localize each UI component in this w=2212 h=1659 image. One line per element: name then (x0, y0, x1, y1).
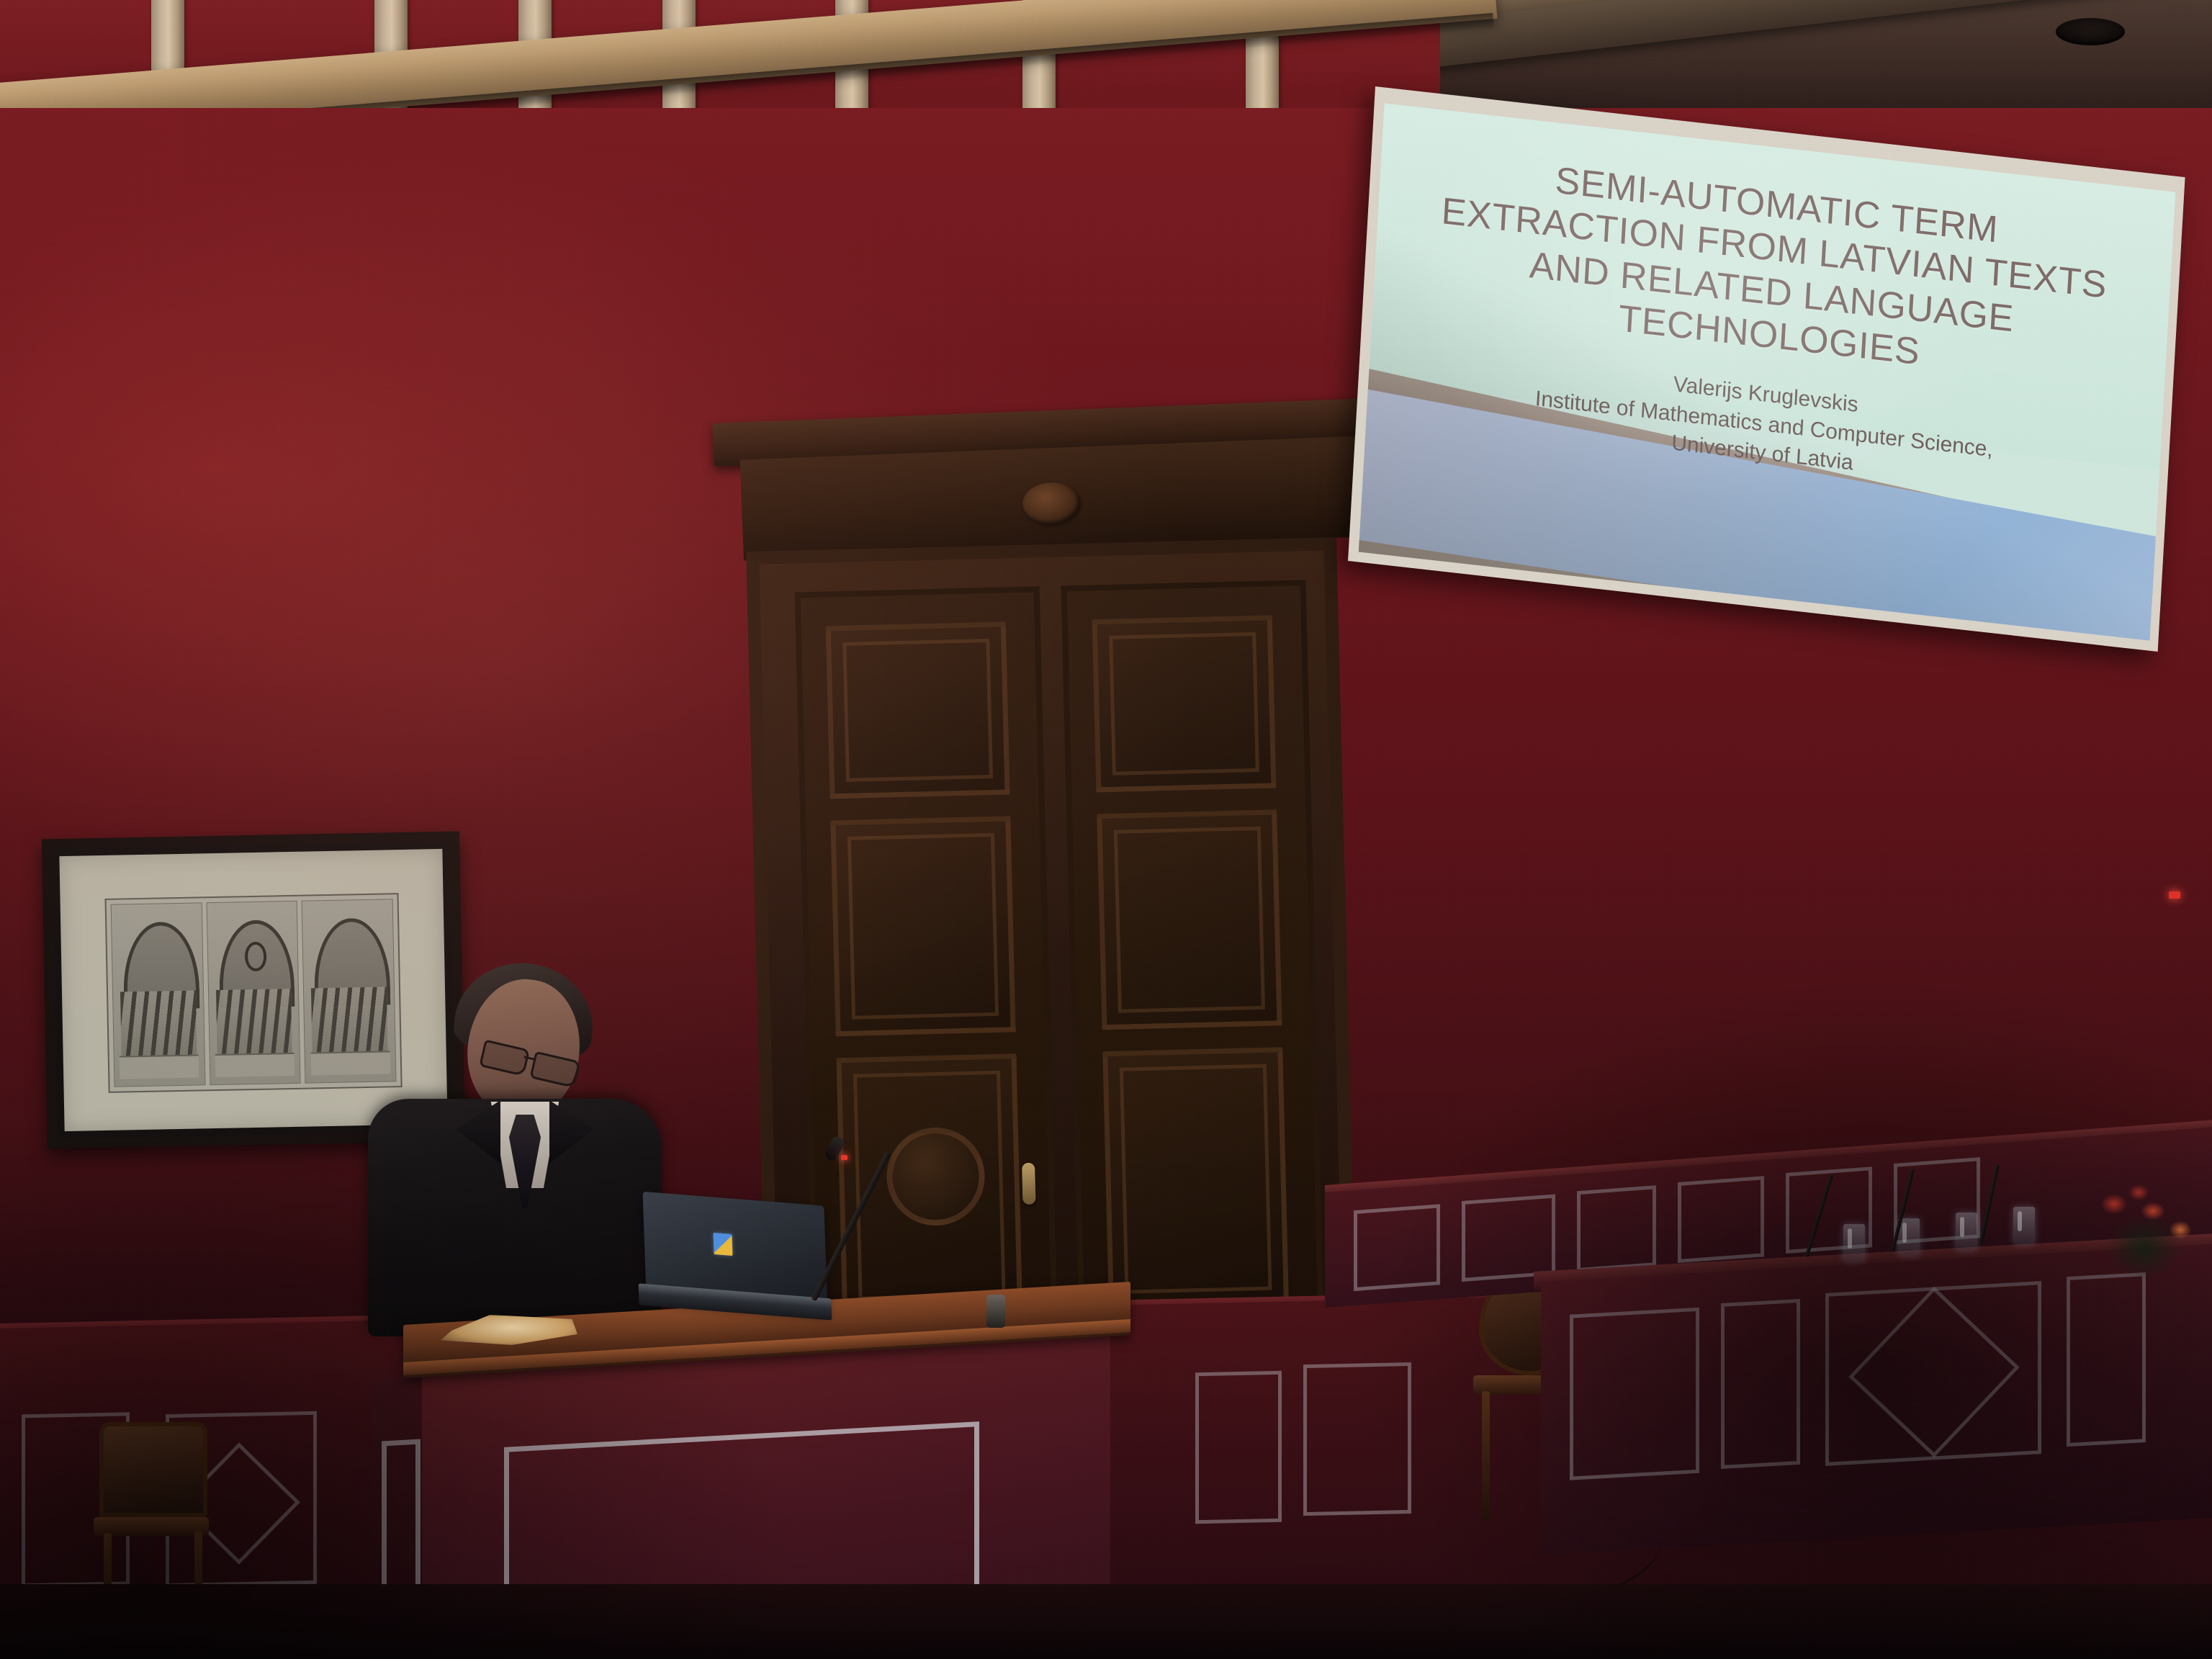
figure-group (120, 990, 197, 1061)
table-panel (1354, 1204, 1440, 1291)
panel-caption-band (215, 1053, 295, 1077)
table-panel (1678, 1176, 1764, 1263)
door-panel (1102, 1047, 1289, 1310)
picture-artwork (105, 893, 403, 1093)
wainscot-panel (1195, 1371, 1282, 1524)
water-glass[interactable] (1843, 1224, 1865, 1262)
door-panel-inner (1109, 632, 1259, 775)
door-panel (826, 621, 1010, 799)
water-glass[interactable] (1898, 1218, 1920, 1256)
door-panel-inner (842, 639, 993, 782)
projection-screen: SEMI-AUTOMATIC TERM EXTRACTION FROM LATV… (1348, 86, 2185, 652)
panel-caption-band (120, 1054, 199, 1079)
conference-hall-photo: SEMI-AUTOMATIC TERM EXTRACTION FROM LATV… (0, 0, 2212, 1659)
table-panel (1577, 1185, 1656, 1272)
triptych-panel-center (206, 901, 301, 1085)
presentation-slide: SEMI-AUTOMATIC TERM EXTRACTION FROM LATV… (1359, 104, 2176, 641)
door-panel (830, 816, 1015, 1036)
chair-backrest (99, 1422, 207, 1517)
flower-arrangement (2072, 1161, 2209, 1305)
equipment-indicator-led (2169, 891, 2180, 899)
figure-group (216, 989, 293, 1059)
presenter-person (364, 958, 666, 1332)
laptop-logo-sticker (713, 1233, 732, 1256)
door-leaf-right[interactable] (1061, 580, 1324, 1341)
door-panel-inner (1114, 827, 1265, 1013)
door-panel (1097, 809, 1282, 1030)
water-glass[interactable] (2013, 1207, 2035, 1244)
table-panel (1721, 1299, 1800, 1469)
triptych-panel-left (111, 902, 206, 1087)
water-glass[interactable] (1956, 1213, 1977, 1250)
microphone-status-led (841, 1155, 848, 1160)
door-panel-inner (1120, 1064, 1272, 1294)
podium-microphone-base (986, 1295, 1005, 1328)
table-panel (1570, 1308, 1699, 1480)
door-panel-inner (848, 833, 999, 1020)
ceiling-downlight (2056, 18, 2125, 45)
table-panel (1462, 1195, 1555, 1282)
door-panel (1092, 615, 1277, 792)
door-handle[interactable] (1022, 1163, 1035, 1205)
slide-text-layer: SEMI-AUTOMATIC TERM EXTRACTION FROM LATV… (1359, 104, 2176, 641)
floor (0, 1584, 2212, 1659)
